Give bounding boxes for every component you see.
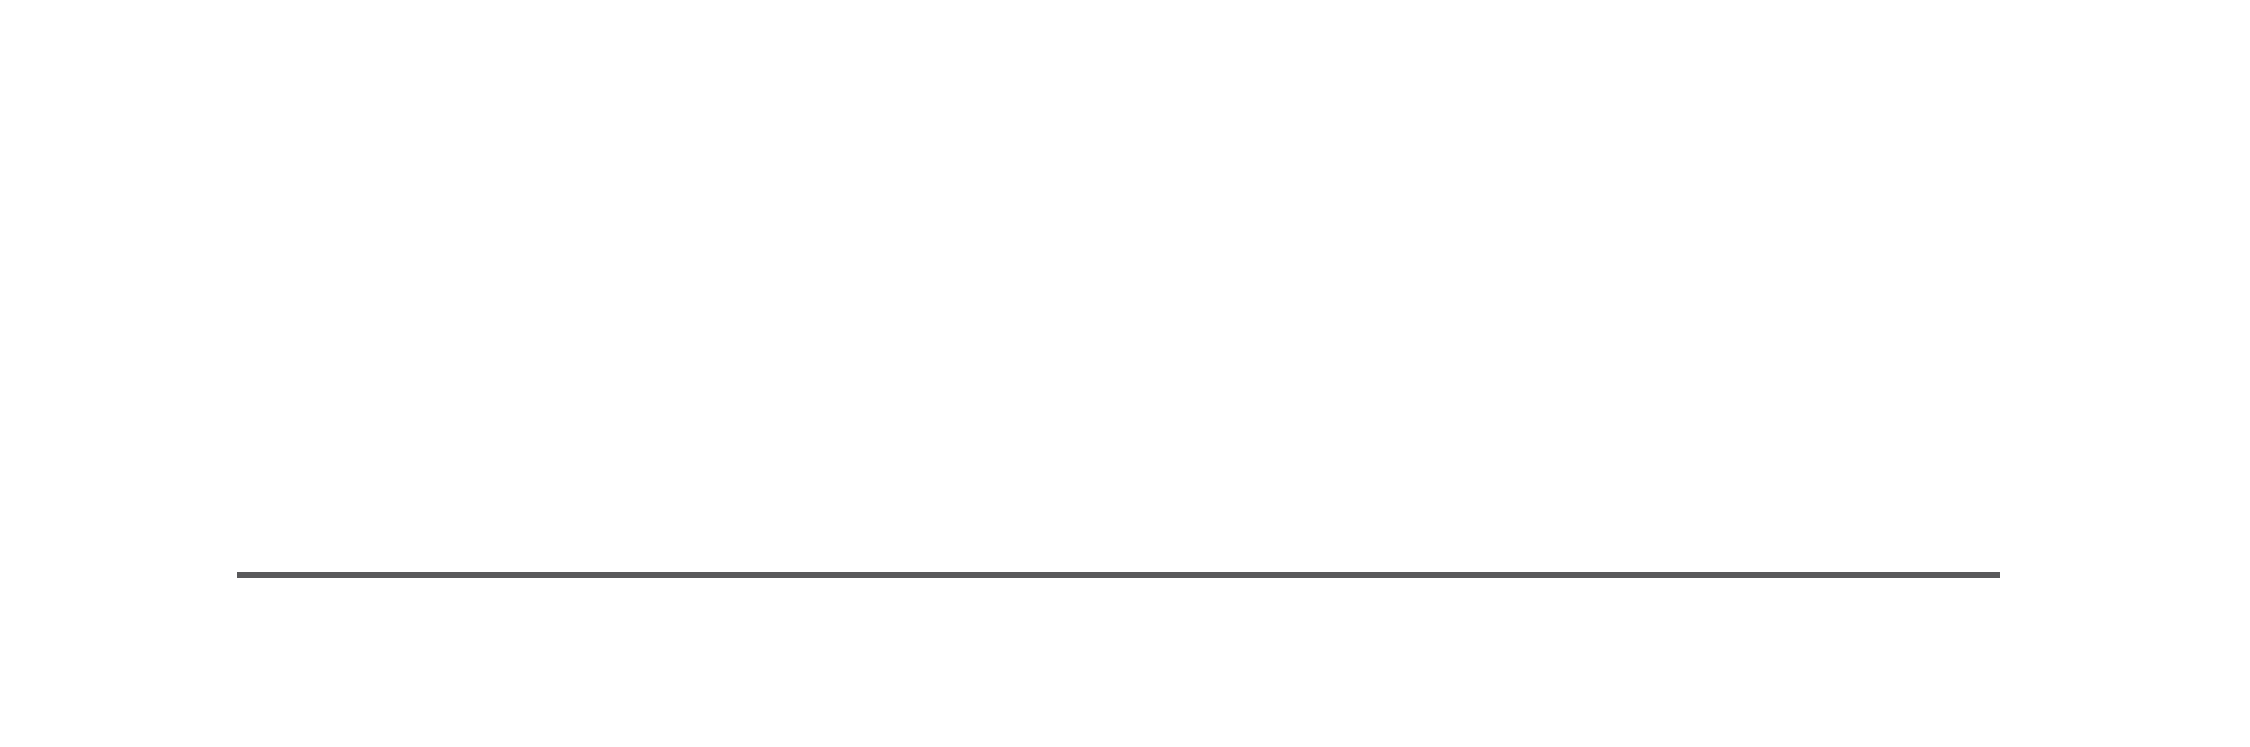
chart-plot-area — [0, 0, 2250, 747]
chart-page — [0, 0, 2250, 747]
